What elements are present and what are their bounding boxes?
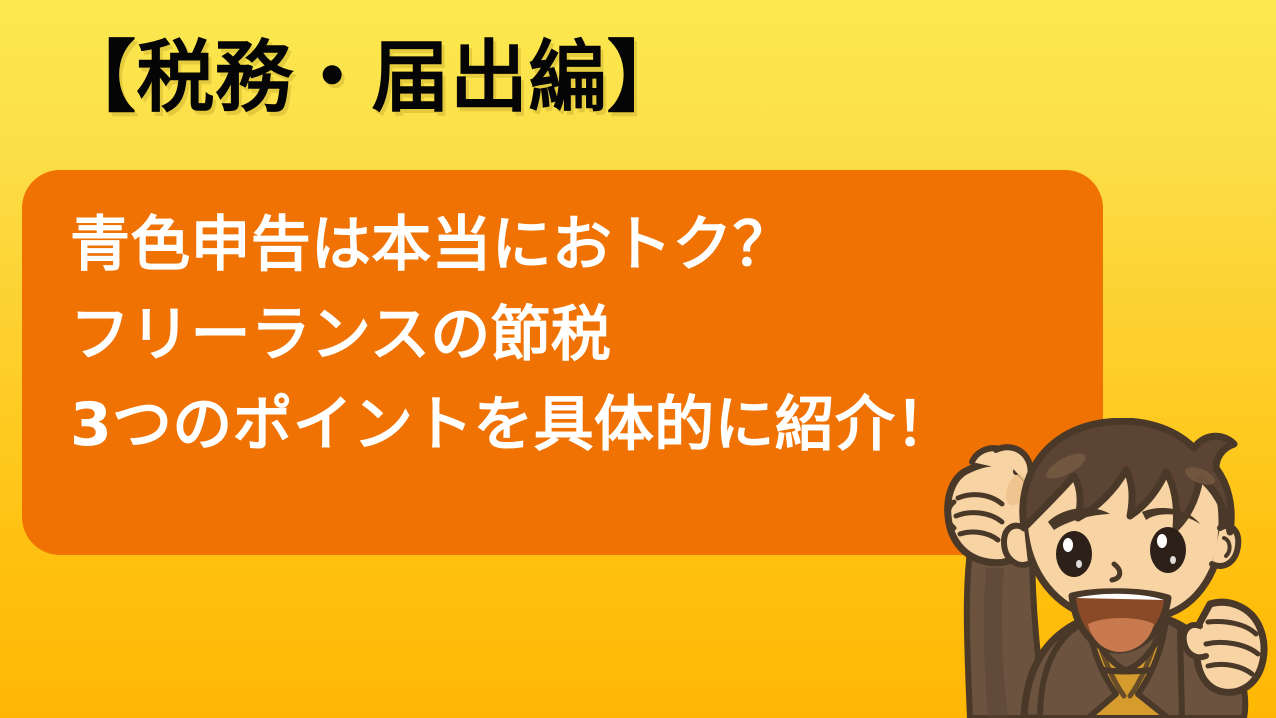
mouth: [1072, 592, 1168, 650]
kicker-title: 【税務・届出編】: [58, 36, 685, 122]
right-eyebrow: [1142, 508, 1200, 524]
thumbnail-canvas: 【税務・届出編】 青色申告は本当におトク？ フリーランスの節税 3つのポイントを…: [0, 0, 1276, 718]
headline-line-3: 3つのポイントを具体的に紹介！: [70, 380, 1083, 470]
headline-panel: 青色申告は本当におトク？ フリーランスの節税 3つのポイントを具体的に紹介！: [22, 170, 1103, 555]
jacket-body: [1024, 618, 1232, 718]
shirt: [1070, 624, 1186, 718]
headline-line-1: 青色申告は本当におトク？: [70, 200, 1083, 290]
nose: [1112, 564, 1120, 580]
right-fist: [1196, 602, 1264, 692]
right-eye: [1150, 527, 1186, 573]
headline-line-2: フリーランスの節税: [70, 290, 1083, 380]
right-sleeve: [1180, 632, 1245, 718]
neck: [1096, 590, 1160, 635]
headline-text-block: 青色申告は本当におトク？ フリーランスの節税 3つのポイントを具体的に紹介！: [70, 200, 1083, 470]
